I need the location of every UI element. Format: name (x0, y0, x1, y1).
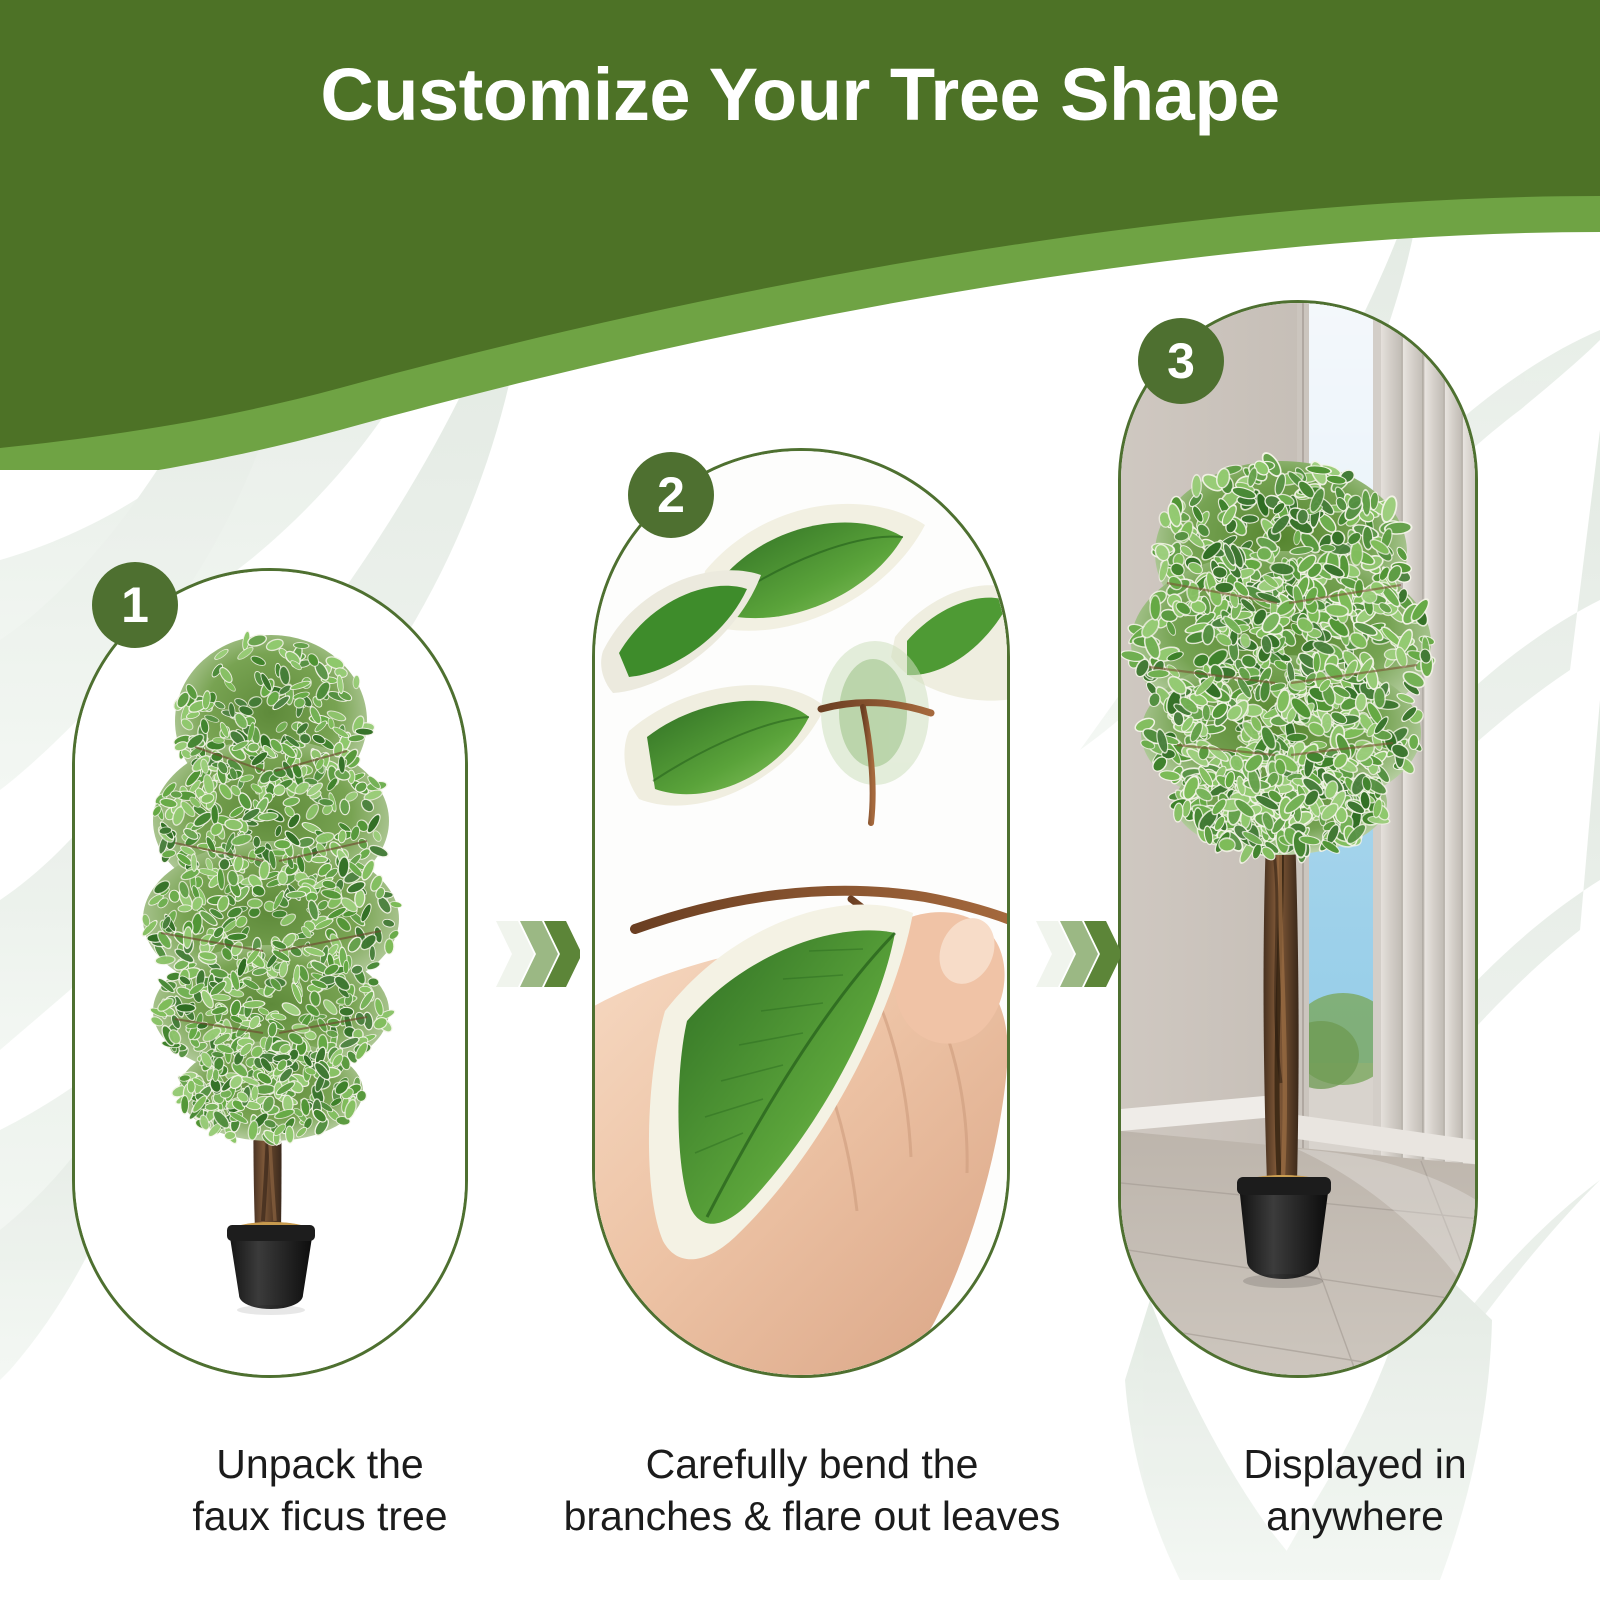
step-1-tree-illustration (75, 571, 468, 1378)
step-1-caption-line-2: faux ficus tree (60, 1490, 580, 1542)
step-1-caption-line-1: Unpack the (60, 1438, 580, 1490)
step-3-room-scene-illustration (1121, 303, 1478, 1378)
step-3-caption-line-2: anywhere (1110, 1490, 1600, 1542)
step-2-caption: Carefully bend the branches & flare out … (512, 1438, 1112, 1543)
step-3-caption-line-1: Displayed in (1110, 1438, 1600, 1490)
step-2-image-panel (592, 448, 1010, 1378)
step-3-badge: 3 (1138, 318, 1224, 404)
chevron-separator-1 (494, 915, 580, 993)
step-3-image-panel (1118, 300, 1478, 1378)
double-chevron-right-icon (496, 921, 580, 987)
step-1-image-panel (72, 568, 468, 1378)
step-3-caption: Displayed in anywhere (1110, 1438, 1600, 1543)
page-title: Customize Your Tree Shape (0, 52, 1600, 137)
step-1-badge: 1 (92, 562, 178, 648)
step-1-caption: Unpack the faux ficus tree (60, 1438, 580, 1543)
step-2-hand-leaf-illustration (595, 451, 1010, 1378)
chevron-separator-2 (1034, 915, 1120, 993)
step-2-caption-line-1: Carefully bend the (512, 1438, 1112, 1490)
step-2-caption-line-2: branches & flare out leaves (512, 1490, 1112, 1542)
double-chevron-right-icon (1036, 921, 1120, 987)
step-2-badge: 2 (628, 452, 714, 538)
